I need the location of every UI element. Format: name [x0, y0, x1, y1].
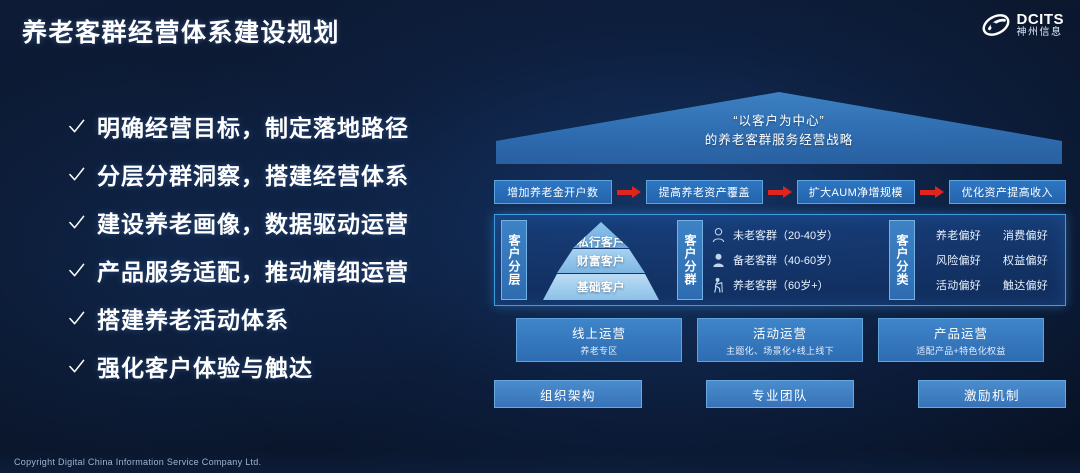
- preference-tag: 养老偏好: [936, 227, 981, 243]
- operation-title: 活动运营: [753, 323, 807, 342]
- logo-text-cn: 神州信息: [1017, 28, 1065, 39]
- check-icon: [68, 214, 85, 231]
- arrow-right-icon: [612, 180, 646, 204]
- operation-box-product[interactable]: 产品运营 适配产品+特色化权益: [878, 318, 1044, 362]
- list-item: 建设养老画像，数据驱动运营: [68, 198, 468, 246]
- page-title: 养老客群经营体系建设规划: [22, 13, 340, 49]
- foundation-row: 组织架构 专业团队 激励机制: [494, 380, 1066, 408]
- operation-subtitle: 养老专区: [580, 344, 617, 357]
- step-box-2[interactable]: 提高养老资产覆盖: [646, 180, 764, 204]
- foundation-box-organization[interactable]: 组织架构: [494, 380, 642, 408]
- adult-person-icon: [711, 252, 726, 268]
- preference-tag: 风险偏好: [936, 252, 981, 268]
- operation-box-online[interactable]: 线上运营 养老专区: [516, 318, 682, 362]
- foundation-box-incentive[interactable]: 激励机制: [918, 380, 1066, 408]
- check-icon: [68, 262, 85, 279]
- preference-tag: 消费偏好: [1003, 227, 1048, 243]
- list-item: 强化客户体验与触达: [68, 342, 468, 390]
- check-icon: [68, 310, 85, 327]
- banner-text: “以客户为中心” 的养老客群服务经营战略: [496, 112, 1062, 150]
- copyright-text: Copyright Digital China Information Serv…: [14, 457, 261, 467]
- operation-subtitle: 适配产品+特色化权益: [916, 344, 1005, 357]
- young-person-icon: [711, 227, 726, 243]
- list-item-label: 搭建养老活动体系: [97, 301, 289, 335]
- list-item-label: 强化客户体验与触达: [97, 349, 313, 383]
- operation-box-activity[interactable]: 活动运营 主题化、场景化+线上线下: [697, 318, 863, 362]
- label-customer-tiering: 客户分层: [501, 220, 527, 300]
- operations-row: 线上运营 养老专区 活动运营 主题化、场景化+线上线下 产品运营 适配产品+特色…: [516, 318, 1044, 362]
- check-icon: [68, 358, 85, 375]
- pyramid-tier-top-label: 私行客户: [577, 234, 625, 250]
- step-box-4[interactable]: 优化资产提高收入: [949, 180, 1067, 204]
- swirl-logo-icon: [981, 10, 1011, 40]
- page-footer: Copyright Digital China Information Serv…: [0, 451, 1080, 473]
- list-item: 未老客群（20-40岁）: [711, 227, 883, 243]
- list-item: 产品服务适配，推动精细运营: [68, 246, 468, 294]
- pyramid-tier-top: 私行客户: [573, 222, 629, 248]
- logo-text-en: DCITS: [1017, 12, 1065, 28]
- goal-steps-flow: 增加养老金开户数 提高养老资产覆盖 扩大AUM净增规模 优化资产提高收入: [494, 180, 1066, 204]
- customer-pyramid: 私行客户 财富客户 基础客户: [527, 215, 671, 305]
- page-header: 养老客群经营体系建设规划 DCITS 神州信息: [0, 0, 1080, 58]
- check-icon: [68, 118, 85, 135]
- strategy-banner: “以客户为中心” 的养老客群服务经营战略: [496, 92, 1062, 164]
- label-customer-grouping: 客户分群: [677, 220, 703, 300]
- preference-tag: 触达偏好: [1003, 277, 1048, 293]
- list-item-label: 分层分群洞察，搭建经营体系: [97, 157, 409, 191]
- arrow-right-icon: [915, 180, 949, 204]
- operation-subtitle: 主题化、场景化+线上线下: [726, 344, 834, 357]
- list-item-label: 建设养老画像，数据驱动运营: [97, 205, 409, 239]
- pyramid-tier-middle: 财富客户: [557, 249, 645, 273]
- list-item: 明确经营目标，制定落地路径: [68, 102, 468, 150]
- check-icon: [68, 166, 85, 183]
- banner-line-2: 的养老客群服务经营战略: [496, 131, 1062, 150]
- segment-label: 未老客群（20-40岁）: [733, 227, 838, 243]
- list-item-label: 产品服务适配，推动精细运营: [97, 253, 409, 287]
- segment-label: 养老客群（60岁+）: [733, 277, 829, 293]
- step-box-1[interactable]: 增加养老金开户数: [494, 180, 612, 204]
- list-item-label: 明确经营目标，制定落地路径: [97, 109, 409, 143]
- list-item: 搭建养老活动体系: [68, 294, 468, 342]
- pyramid-tier-bottom: 基础客户: [543, 274, 659, 300]
- brand-logo: DCITS 神州信息: [981, 10, 1065, 40]
- label-customer-classification: 客户分类: [889, 220, 915, 300]
- operation-title: 产品运营: [934, 323, 988, 342]
- list-item: 分层分群洞察，搭建经营体系: [68, 150, 468, 198]
- list-item: 备老客群（40-60岁）: [711, 252, 883, 268]
- segment-label: 备老客群（40-60岁）: [733, 252, 838, 268]
- operation-title: 线上运营: [572, 323, 626, 342]
- step-box-3[interactable]: 扩大AUM净增规模: [797, 180, 915, 204]
- banner-line-1: “以客户为中心”: [496, 112, 1062, 131]
- key-points-list: 明确经营目标，制定落地路径 分层分群洞察，搭建经营体系 建设养老画像，数据驱动运…: [68, 102, 468, 390]
- customer-insight-panel: 客户分层 私行客户 财富客户 基础客户 客户分群 未老客群（20-40岁: [494, 214, 1066, 306]
- preference-tag: 活动偏好: [936, 277, 981, 293]
- preference-tag: 权益偏好: [1003, 252, 1048, 268]
- customer-preferences-grid: 养老偏好 消费偏好 风险偏好 权益偏好 活动偏好 触达偏好: [915, 215, 1065, 305]
- list-item: 养老客群（60岁+）: [711, 277, 883, 293]
- arrow-right-icon: [763, 180, 797, 204]
- elderly-person-icon: [711, 277, 726, 293]
- strategy-diagram: “以客户为中心” 的养老客群服务经营战略 增加养老金开户数 提高养老资产覆盖 扩…: [490, 92, 1070, 432]
- customer-segments-list: 未老客群（20-40岁） 备老客群（40-60岁）: [703, 215, 883, 305]
- foundation-box-team[interactable]: 专业团队: [706, 380, 854, 408]
